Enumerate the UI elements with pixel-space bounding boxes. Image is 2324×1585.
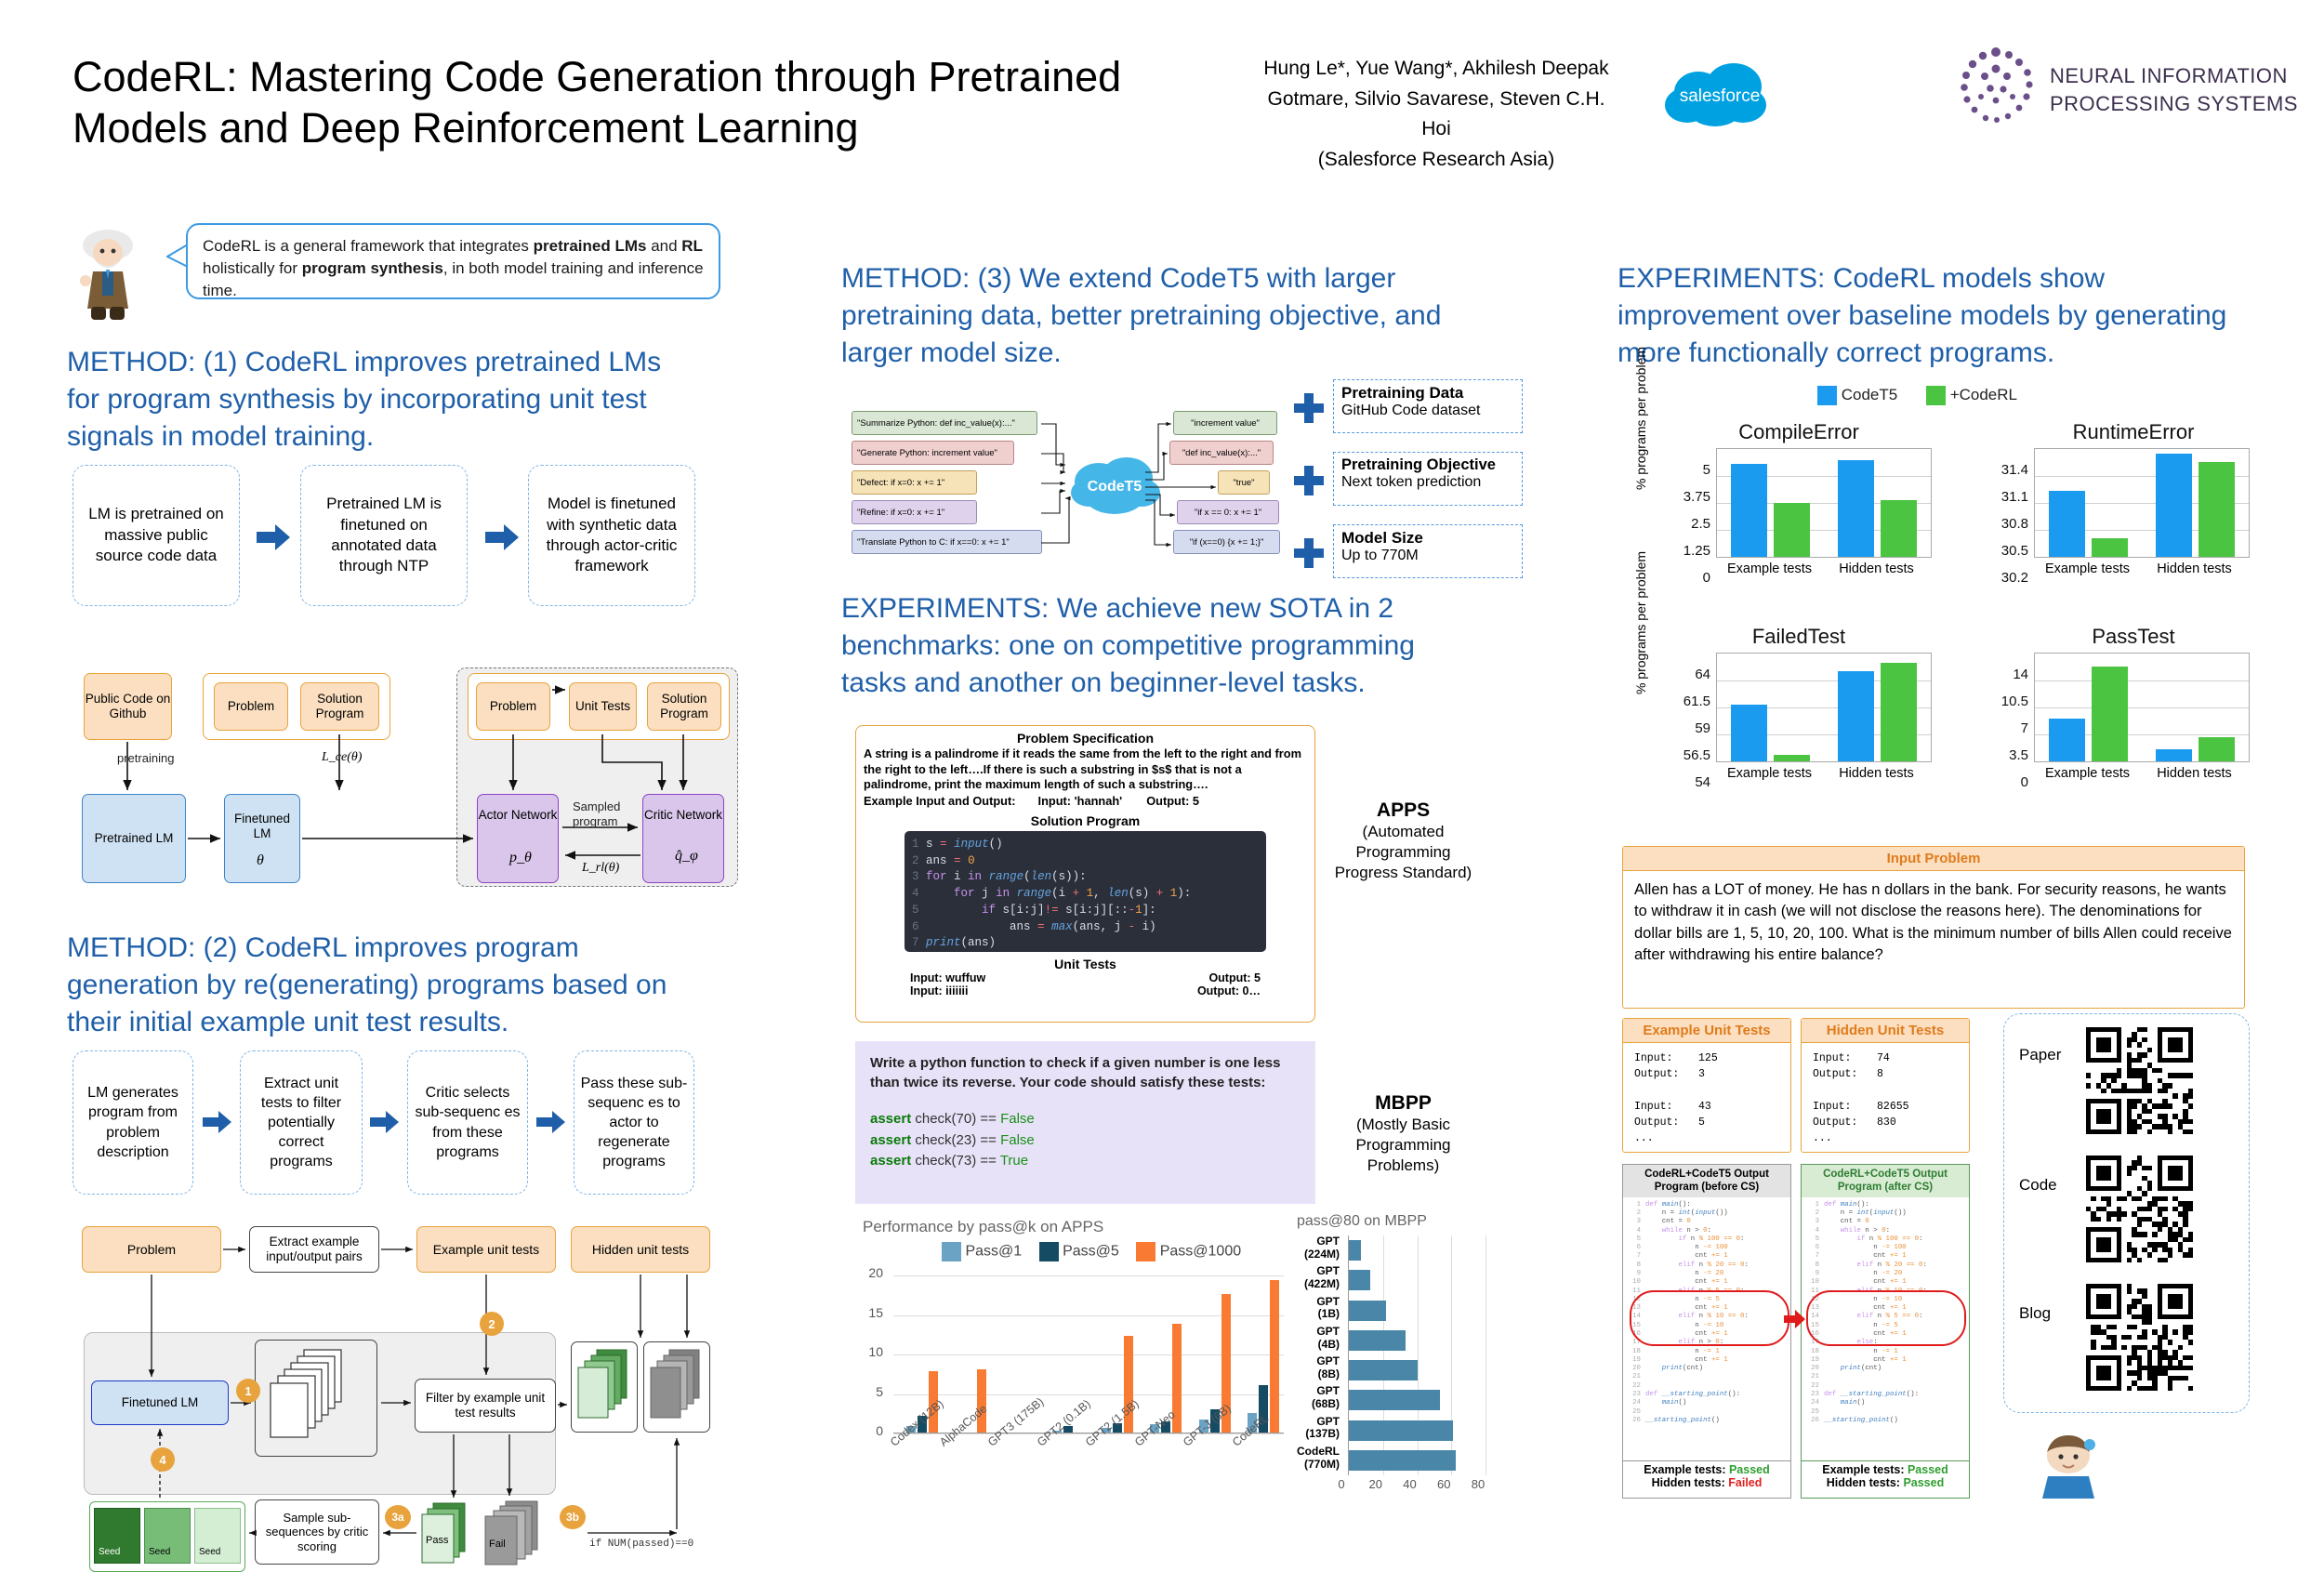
apps-spec-title: Problem Specification [856, 731, 1314, 746]
flow2-step-4: Pass these sub-sequenc es to actor to re… [574, 1050, 694, 1195]
qr-module [2132, 1325, 2136, 1329]
salesforce-wordmark: salesforce [1680, 86, 1761, 106]
apps-side-label: APPS (Automated Programming Progress Sta… [1331, 799, 1475, 883]
y-tick-label: 31.4 [2001, 462, 2028, 478]
badge-2: 2 [480, 1312, 504, 1336]
bubble-bold-1: pretrained LMs [534, 237, 647, 255]
intro-callout: CodeRL is a general framework that integ… [74, 223, 725, 325]
mbpp-plot-area [1348, 1235, 1486, 1475]
bar [1881, 663, 1917, 761]
pass-test-y-axis: 03.5710.514 [1971, 651, 2028, 762]
y-tick-label: 0 [1703, 570, 1710, 586]
code-line: 7 cnt += 1 [1804, 1252, 1966, 1261]
qr-module [2142, 1037, 2146, 1042]
feature-pretraining-data: Pretraining Data GitHub Code dataset [1292, 379, 1525, 437]
y-tick-label: 31.1 [2001, 489, 2028, 505]
arrow-right-icon [1783, 1309, 1807, 1329]
qr-module [2147, 1109, 2152, 1114]
y-tick-label: GPT (8B) [1316, 1355, 1340, 1381]
badge-3b: 3b [560, 1505, 586, 1529]
qr-module [2137, 1258, 2142, 1262]
code-line: 14 elif n % 10 == 0: [1626, 1313, 1788, 1321]
runtime-error-plot [2034, 448, 2250, 558]
salesforce-logo: salesforce [1650, 51, 1789, 144]
example-unit-tests-title: Example Unit Tests [1623, 1019, 1790, 1043]
mbpp-chart-title: pass@80 on MBPP [1297, 1213, 1492, 1230]
chart-runtime-error: RuntimeError 30.230.530.831.131.4 Exampl… [1971, 420, 2296, 606]
x-tick-label: 40 [1403, 1477, 1416, 1491]
pass-test-plot [2034, 653, 2250, 762]
right-charts-legend: CodeT5 +CodeRL [1817, 386, 2017, 405]
failed-test-plot [1716, 653, 1932, 762]
mbpp-y-axis: GPT (224M)GPT (422M)GPT (1B)GPT (4B)GPT … [1297, 1235, 1345, 1475]
bar [1349, 1330, 1406, 1351]
badge-4: 4 [151, 1447, 175, 1472]
legend-swatch-coderl [1926, 386, 1946, 405]
qr-module [2111, 1345, 2116, 1350]
code-line: 19 cnt += 1 [1804, 1356, 1966, 1365]
y-tick-label: 59 [1695, 720, 1710, 736]
flow1-step-1: LM is pretrained on massive public sourc… [73, 465, 240, 606]
bar [1349, 1360, 1418, 1380]
qr-module [2137, 1196, 2142, 1201]
after-example-label: Example tests: [1822, 1463, 1904, 1476]
flow1-step-3: Model is finetuned with synthetic data t… [528, 465, 695, 606]
qr-module [2137, 1042, 2142, 1047]
bubble-part-1: CodeRL is a general framework that integ… [203, 237, 534, 255]
x-tick-label: Example tests [2034, 561, 2141, 576]
y-tick-label: 2.5 [1691, 516, 1710, 532]
y-tick-label: 0 [2021, 774, 2028, 790]
qr-module [2152, 1248, 2157, 1252]
code-line: 23def __starting_point(): [1804, 1391, 1966, 1399]
after-hidden-label: Hidden tests: [1827, 1476, 1900, 1489]
feature-desc: Up to 770M [1341, 548, 1514, 564]
y-tick-label: GPT (224M) [1304, 1235, 1340, 1261]
y-tick-label: GPT (137B) [1305, 1416, 1340, 1442]
qr-module [2137, 1058, 2142, 1063]
y-tick-label: 10.5 [2001, 693, 2028, 709]
code-line: 17 elif n > 0: [1626, 1339, 1788, 1347]
codet5-input-5: "Translate Python to C: if x==0: x += 1" [852, 530, 1042, 554]
qr-module [2127, 1170, 2132, 1175]
chart-pass-test: PassTest 03.5710.514 Example testsHidden… [1971, 625, 2296, 811]
codet5-input-4: "Refine: if x=0: x += 1" [852, 500, 977, 524]
x-tick-label: Hidden tests [1823, 561, 1930, 576]
qr-module [2117, 1129, 2121, 1134]
qr-module [2117, 1186, 2121, 1191]
qr-module [2117, 1314, 2121, 1319]
feature-title: Model Size [1341, 529, 1514, 548]
bar [1774, 503, 1810, 557]
x-tick-label: 80 [1472, 1477, 1485, 1491]
failed-test-title: FailedTest [1636, 625, 1961, 649]
bubble-bold-3: program synthesis [302, 259, 443, 277]
code-line: 11 elif n % 10 == 0: [1804, 1288, 1966, 1296]
qr-module [2188, 1093, 2193, 1098]
intro-callout-text: CodeRL is a general framework that integ… [186, 223, 720, 299]
qr-module [2106, 1119, 2111, 1124]
qr-module [2137, 1222, 2142, 1226]
poster-header: CodeRL: Mastering Code Generation throug… [0, 0, 2324, 163]
chart-apps-passk: Performance by pass@k on APPS Pass@1 Pas… [863, 1218, 1300, 1515]
code-line: 23def __starting_point(): [1626, 1391, 1788, 1399]
qr-module [2147, 1129, 2152, 1134]
plus-icon [1292, 536, 1326, 570]
link-label-code[interactable]: Code [2019, 1176, 2057, 1195]
qr-module [2178, 1345, 2183, 1350]
x-tick-label: 60 [1437, 1477, 1450, 1491]
apps-chart-legend: Pass@1 Pass@5 Pass@1000 [942, 1242, 1241, 1261]
code-line: 2 n = int(input()) [1626, 1209, 1788, 1218]
before-cs-code: 1def main():2 n = int(input())3 cnt = 04… [1623, 1197, 1790, 1425]
qr-module [2121, 1211, 2126, 1216]
qr-module [2142, 1191, 2146, 1195]
code-line: 8 elif n % 20 == 0: [1626, 1261, 1788, 1270]
mbpp-acronym: MBPP [1331, 1092, 1475, 1115]
qr-module [2188, 1129, 2193, 1134]
qr-module [2106, 1217, 2111, 1222]
code-line: 3 cnt = 0 [1804, 1218, 1966, 1226]
example-unit-tests-body: Input: 125 Output: 3 Input: 43 Output: 5… [1623, 1043, 1790, 1155]
einstein-avatar [74, 225, 141, 322]
feature-title: Pretraining Data [1341, 384, 1514, 403]
qr-module [2188, 1058, 2193, 1063]
flow-diagram-2: LM generates program from problem descri… [73, 1050, 742, 1199]
qr-module [2132, 1103, 2136, 1108]
after-example-value: Passed [1908, 1463, 1948, 1476]
qr-module [2091, 1196, 2095, 1201]
hidden-unit-tests-title: Hidden Unit Tests [1802, 1019, 1969, 1043]
plus-icon [1292, 391, 1326, 425]
codet5-input-3: "Defect: if x=0: x += 1" [852, 470, 977, 495]
links-panel: Paper Code Blog [2003, 1013, 2250, 1413]
chart-compile-error: CompileError % programs per problem 01.2… [1636, 420, 1961, 606]
y-tick-label: 7 [2021, 720, 2028, 736]
y-tick-label: GPT (68B) [1312, 1385, 1340, 1411]
heading-method-2: METHOD: (2) CodeRL improves program gene… [67, 930, 699, 1041]
qr-module [2106, 1048, 2111, 1052]
heading-method-3: METHOD: (3) We extend CodeT5 with larger… [841, 260, 1473, 372]
bar [1349, 1450, 1456, 1471]
code-line: 6 n -= 100 [1626, 1244, 1788, 1252]
code-line: 21 [1804, 1373, 1966, 1381]
qr-module [2188, 1103, 2193, 1108]
qr-module [2168, 1083, 2172, 1088]
y-tick-label: GPT (4B) [1316, 1326, 1340, 1352]
legend-label-pass1000: Pass@1000 [1160, 1244, 1241, 1260]
before-cs-box: CodeRL+CodeT5 Output Program (before CS)… [1622, 1164, 1791, 1461]
qr-code-paper[interactable] [2086, 1027, 2193, 1134]
badge-1: 1 [236, 1379, 260, 1403]
qr-module [2106, 1376, 2111, 1380]
code-line: 3 cnt = 0 [1626, 1218, 1788, 1226]
qr-module [2162, 1196, 2167, 1201]
legend-swatch-codet5 [1817, 386, 1837, 405]
legend-label-pass1: Pass@1 [965, 1244, 1022, 1260]
architecture-diagram-1: Public Code on Github Problem Solution P… [73, 662, 742, 894]
qr-module [2127, 1042, 2132, 1047]
qr-module [2117, 1073, 2121, 1077]
qr-module [2168, 1340, 2172, 1344]
qr-module [2147, 1186, 2152, 1191]
arrow-right-icon [255, 522, 294, 552]
y-tick-label: GPT (422M) [1304, 1265, 1340, 1291]
qr-module [2142, 1335, 2146, 1340]
flow-diagram-1: LM is pretrained on massive public sourc… [73, 465, 742, 614]
qr-module [2188, 1329, 2193, 1334]
qr-module [2168, 1386, 2172, 1391]
authors-line-1: Hung Le*, Yue Wang*, Akhilesh Deepak [1250, 54, 1622, 85]
qr-module [2121, 1196, 2126, 1201]
code-line: 19 cnt += 1 [1626, 1356, 1788, 1365]
bar [1731, 464, 1767, 557]
qr-module [2188, 1237, 2193, 1242]
compile-error-ylabel: % programs per problem [1633, 469, 1648, 490]
code-line: 9 n -= 20 [1804, 1270, 1966, 1278]
pass-test-title: PassTest [1971, 625, 2296, 649]
apps-example-input: Input: 'hannah' [1038, 794, 1123, 808]
heading-method-1: METHOD: (1) CodeRL improves pretrained L… [67, 344, 680, 456]
qr-module [2147, 1319, 2152, 1324]
compile-error-y-axis: 01.252.53.755 [1658, 446, 1710, 558]
y-tick-label: 0 [876, 1423, 883, 1438]
apps-test-2-input: Input: iiiiiii [910, 984, 969, 997]
qr-module [2117, 1386, 2121, 1391]
qr-module [2117, 1058, 2121, 1063]
after-hidden-value: Passed [1903, 1476, 1944, 1489]
apps-test-1-output: Output: 5 [1208, 971, 1261, 984]
code-line: 12 n -= 5 [1626, 1296, 1788, 1304]
qr-module [2137, 1124, 2142, 1129]
code-line: 21 [1626, 1373, 1788, 1381]
neurips-logo: NEURAL INFORMATION PROCESSING SYSTEMS [1948, 37, 2310, 144]
apps-test-2-output: Output: 0… [1197, 984, 1261, 997]
code-line: 15 n -= 5 [1804, 1322, 1966, 1330]
bar [2199, 462, 2235, 557]
qr-module [2142, 1027, 2146, 1032]
qr-module [2178, 1176, 2183, 1181]
flow2-step-1: LM generates program from problem descri… [73, 1050, 193, 1195]
badge-3a: 3a [385, 1505, 411, 1529]
feature-desc: GitHub Code dataset [1341, 403, 1514, 419]
bar [1881, 500, 1917, 557]
qr-module [2117, 1258, 2121, 1262]
y-tick-label: 14 [2013, 667, 2028, 682]
bar [1349, 1390, 1440, 1410]
code-line: 4 while n > 0: [1626, 1227, 1788, 1235]
bar [2092, 538, 2128, 557]
apps-expansion: (Automated Programming Progress Standard… [1331, 822, 1475, 883]
chart-failed-test: FailedTest % programs per problem 5456.5… [1636, 625, 1961, 811]
qr-module [2188, 1386, 2193, 1391]
code-line: 1def main(): [1804, 1201, 1966, 1209]
feature-pretraining-objective: Pretraining Objective Next token predict… [1292, 452, 1525, 509]
qr-module [2127, 1386, 2132, 1391]
apps-tests-title: Unit Tests [856, 957, 1314, 971]
qr-module [2168, 1103, 2172, 1108]
diagram1-connectors [73, 662, 742, 894]
code-line: 13 cnt += 1 [1626, 1304, 1788, 1313]
before-cs-title: CodeRL+CodeT5 Output Program (before CS) [1623, 1165, 1790, 1197]
flow2-step-2: Extract unit tests to filter potentially… [240, 1050, 363, 1195]
y-tick-label: 56.5 [1684, 747, 1710, 763]
qr-module [2152, 1386, 2157, 1391]
code-line: 25 [1804, 1408, 1966, 1417]
feature-title: Pretraining Objective [1341, 456, 1514, 474]
runtime-error-y-axis: 30.230.530.831.131.4 [1971, 446, 2028, 558]
qr-module [2188, 1073, 2193, 1077]
qr-code-blog[interactable] [2086, 1284, 2193, 1391]
qr-module [2127, 1360, 2132, 1365]
qr-module [2172, 1329, 2177, 1334]
code-line: 26__starting_point() [1804, 1417, 1966, 1425]
qr-code-code[interactable] [2086, 1156, 2193, 1262]
bubble-part-2: and [646, 237, 681, 255]
before-hidden-value: Failed [1728, 1476, 1762, 1489]
mascot-icon [2031, 1432, 2106, 1500]
compile-error-plot [1716, 448, 1932, 558]
y-tick-label: 5 [1703, 462, 1710, 478]
chart-mbpp-pass80: pass@80 on MBPP GPT (224M)GPT (422M)GPT … [1297, 1213, 1492, 1511]
heading-experiments-mid: EXPERIMENTS: We achieve new SOTA in 2 be… [841, 590, 1483, 702]
qr-module [2178, 1304, 2183, 1309]
bar [1349, 1420, 1453, 1441]
link-label-paper[interactable]: Paper [2019, 1046, 2061, 1064]
code-line: 22 [1626, 1382, 1788, 1391]
code-line: 20 print(cnt) [1626, 1365, 1788, 1373]
y-tick-label: 3.75 [1684, 489, 1710, 505]
example-unit-tests-box: Example Unit Tests Input: 125 Output: 3 … [1622, 1018, 1791, 1153]
apps-example-output: Output: 5 [1146, 794, 1199, 808]
bar [2092, 667, 2128, 761]
code-line: 16 cnt += 1 [1804, 1330, 1966, 1339]
code-line: 15 n -= 10 [1626, 1322, 1788, 1330]
x-tick-label: Hidden tests [2141, 561, 2248, 576]
qr-module [2101, 1089, 2106, 1093]
apps-x-axis: Codex (12B)AlphaCodeGPT3 (175B)GPT2 (0.1… [893, 1435, 1284, 1510]
code-line: 24 main() [1804, 1399, 1966, 1407]
code-line: 16 cnt += 1 [1626, 1330, 1788, 1339]
bar [1838, 671, 1874, 761]
y-tick-label: 20 [868, 1265, 883, 1280]
before-hidden-label: Hidden tests: [1652, 1476, 1725, 1489]
y-tick-label: 30.8 [2001, 516, 2028, 532]
bar [1731, 705, 1767, 761]
x-tick-label: Hidden tests [1823, 766, 1930, 781]
bubble-bold-2: RL [681, 237, 703, 255]
diagram2-connectors [73, 1222, 742, 1585]
heading-experiments-right: EXPERIMENTS: CodeRL models show improvem… [1618, 260, 2259, 372]
qr-module [2147, 1048, 2152, 1052]
code-line: 25 [1626, 1408, 1788, 1417]
mbpp-prompt: Write a python function to check if a gi… [870, 1054, 1301, 1092]
apps-example-label: Example Input and Output: [864, 794, 1016, 808]
before-cs-results: Example tests: Passed Hidden tests: Fail… [1622, 1461, 1791, 1499]
code-line: 22 [1804, 1382, 1966, 1391]
input-problem-body: Allen has a LOT of money. He has n dolla… [1623, 871, 2244, 975]
mbpp-side-label: MBPP (Mostly Basic Programming Problems) [1331, 1092, 1475, 1176]
qr-module [2147, 1207, 2152, 1211]
qr-module [2127, 1288, 2132, 1293]
qr-module [2142, 1294, 2146, 1299]
gridline [2035, 680, 2249, 681]
qr-module [2168, 1252, 2172, 1257]
bar [2049, 719, 2085, 761]
qr-module [2183, 1376, 2187, 1380]
gridline [2035, 707, 2249, 708]
y-tick-label: 61.5 [1684, 693, 1710, 709]
qr-module [2127, 1335, 2132, 1340]
feature-desc: Next token prediction [1341, 474, 1514, 491]
feature-model-size: Model Size Up to 770M [1292, 524, 1525, 582]
affiliation: (Salesforce Research Asia) [1250, 145, 1622, 176]
author-block: Hung Le*, Yue Wang*, Akhilesh Deepak Got… [1250, 54, 1622, 175]
gridline [893, 1275, 1284, 1276]
qr-module [2188, 1252, 2193, 1257]
qr-module [2188, 1314, 2193, 1319]
qr-module [2188, 1207, 2193, 1211]
apps-test-1-input: Input: wuffuw [910, 971, 985, 984]
qr-module [2106, 1176, 2111, 1181]
neurips-wordmark: NEURAL INFORMATION PROCESSING SYSTEMS [2050, 62, 2298, 117]
x-tick-label: Example tests [1716, 561, 1823, 576]
arrow-right-icon [201, 1110, 234, 1136]
y-tick-label: GPT (1B) [1316, 1296, 1340, 1322]
qr-module [2188, 1186, 2193, 1191]
hidden-unit-tests-body: Input: 74 Output: 8 Input: 82655 Output:… [1802, 1043, 1969, 1155]
qr-module [2137, 1376, 2142, 1380]
link-label-blog[interactable]: Blog [2019, 1304, 2051, 1323]
code-line: 4 while n > 0: [1804, 1227, 1966, 1235]
failed-test-ylabel: % programs per problem [1633, 674, 1648, 694]
codet5-connectors [1037, 411, 1316, 560]
bar [1349, 1270, 1370, 1290]
arrow-right-icon [483, 522, 522, 552]
plus-icon [1292, 464, 1326, 497]
code-line: 8 elif n % 20 == 0: [1804, 1261, 1966, 1270]
qr-module [2091, 1345, 2095, 1350]
qr-module [2127, 1258, 2132, 1262]
qr-module [2158, 1068, 2162, 1073]
y-tick-label: 30.2 [2001, 570, 2028, 586]
bar [2156, 749, 2192, 761]
apps-chart-title: Performance by pass@k on APPS [863, 1218, 1300, 1236]
code-line: 13 cnt += 1 [1804, 1304, 1966, 1313]
code-line: 5 if n % 100 == 0: [1626, 1235, 1788, 1244]
y-tick-label: 5 [876, 1384, 883, 1399]
qr-module [2106, 1248, 2111, 1252]
authors-line-2: Gotmare, Silvio Savarese, Steven C.H. Ho… [1250, 85, 1622, 145]
after-cs-title: CodeRL+CodeT5 Output Program (after CS) [1802, 1165, 1969, 1197]
code-line: 26__starting_point() [1626, 1417, 1788, 1425]
code-line: 5 if n % 100 == 0: [1804, 1235, 1966, 1244]
mbpp-x-axis: 020406080 [1334, 1477, 1499, 1496]
apps-spec-body: A string is a palindrome if it reads the… [856, 746, 1314, 793]
legend-swatch-pass5 [1039, 1242, 1059, 1261]
qr-module [2188, 1119, 2193, 1124]
code-line: 14 elif n % 5 == 0: [1804, 1313, 1966, 1321]
gridline [1486, 1235, 1486, 1475]
failed-test-y-axis: 5456.55961.564 [1658, 651, 1710, 762]
code-line: 11 elif n % 5 == 0: [1626, 1288, 1788, 1296]
mbpp-expansion: (Mostly Basic Programming Problems) [1331, 1115, 1475, 1176]
page-title: CodeRL: Mastering Code Generation throug… [73, 51, 1253, 154]
qr-module [2132, 1129, 2136, 1134]
code-line: 6 n -= 100 [1804, 1244, 1966, 1252]
before-example-label: Example tests: [1644, 1463, 1725, 1476]
qr-module [2183, 1222, 2187, 1226]
